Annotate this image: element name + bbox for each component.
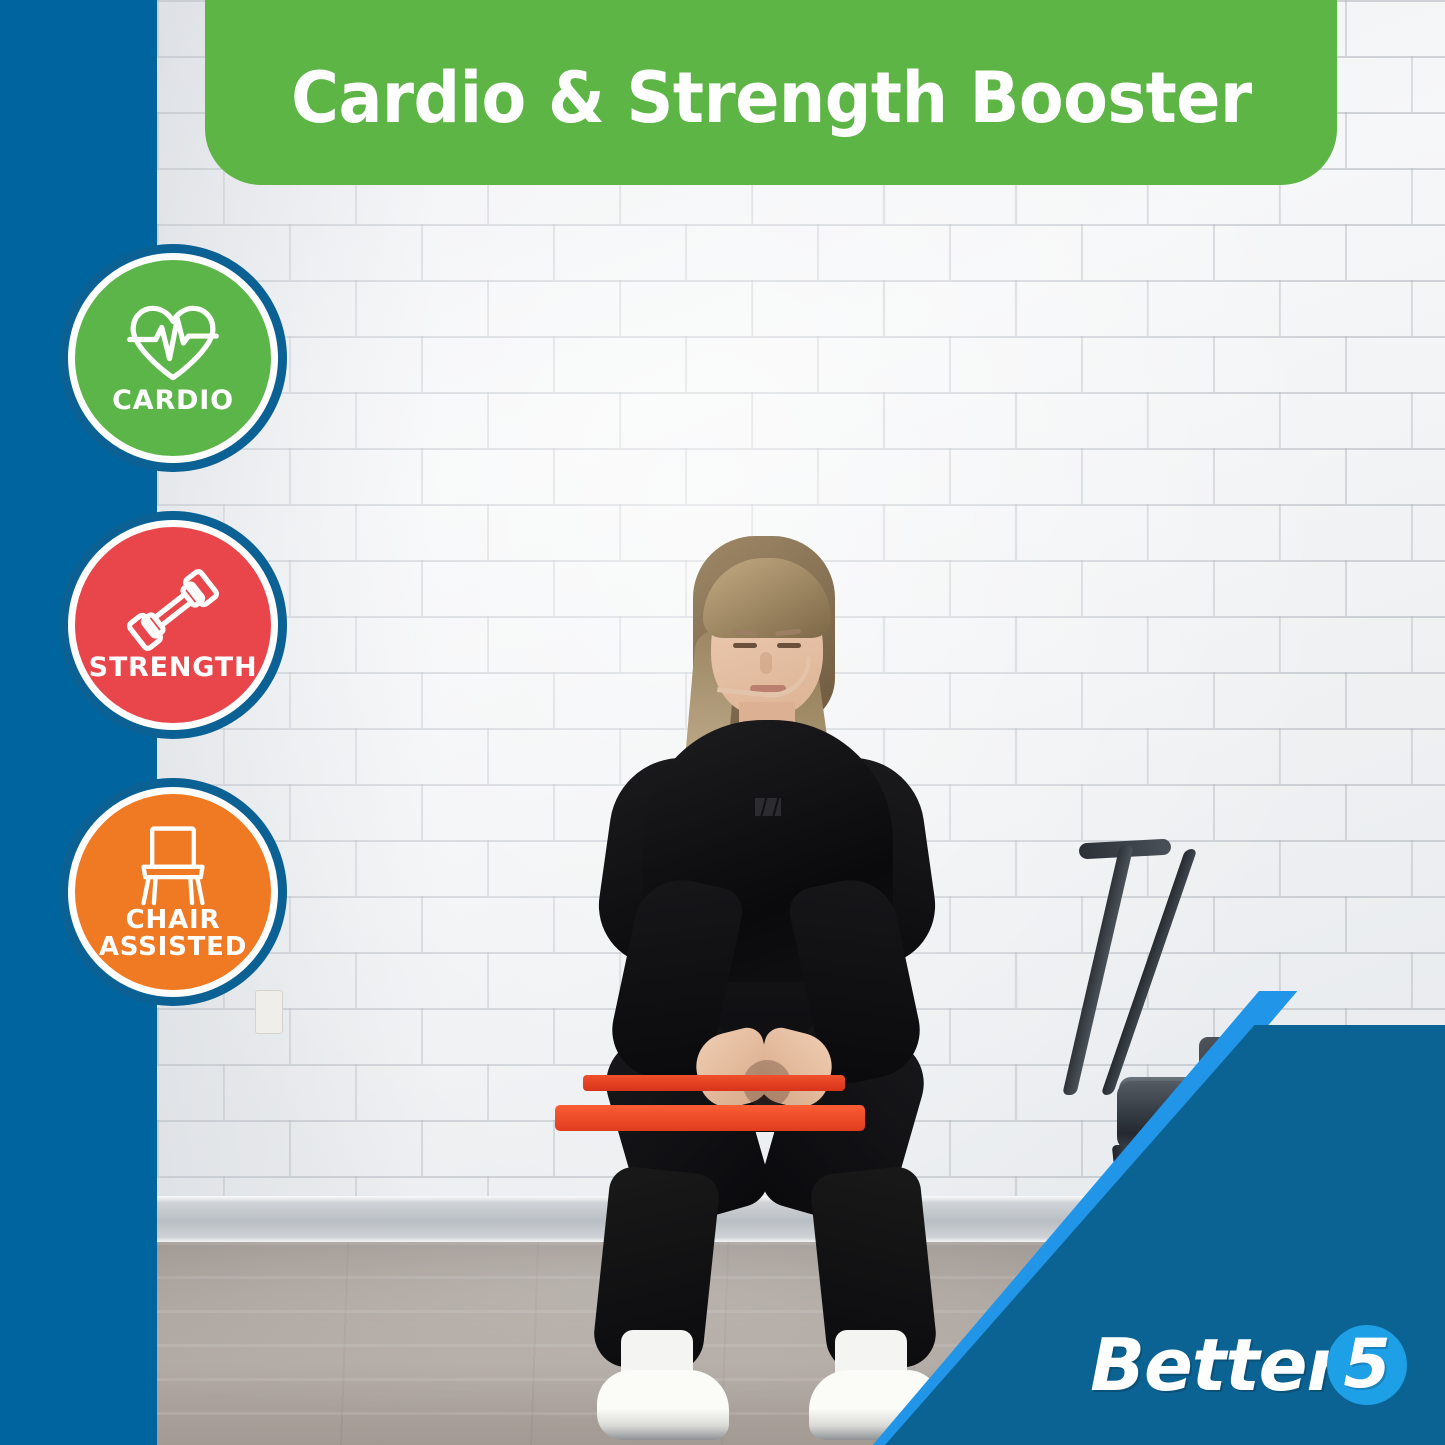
- sneaker-right: [809, 1370, 941, 1440]
- resistance-band: [555, 1075, 865, 1131]
- resistance-band-upper-strand: [583, 1075, 845, 1091]
- title-banner: Cardio & Strength Booster: [205, 0, 1337, 185]
- badge-strength[interactable]: STRENGTH: [68, 520, 278, 730]
- badge-strength-label: STRENGTH: [89, 654, 258, 682]
- badge-cardio[interactable]: CARDIO: [68, 253, 278, 463]
- heart-pulse-icon: [121, 301, 225, 385]
- badge-chair-label-line1: CHAIR: [126, 907, 221, 934]
- chair-icon: [121, 823, 225, 907]
- metal-chair: [1057, 845, 1407, 1325]
- logo-wordmark: Better: [1090, 1323, 1341, 1407]
- dumbbell-bar: [1255, 1054, 1351, 1074]
- workout-photo: [157, 0, 1445, 1445]
- chair-seat: [1117, 1081, 1387, 1151]
- logo-numeral-badge: 5: [1327, 1325, 1407, 1405]
- badge-chair-assisted[interactable]: CHAIR ASSISTED: [68, 787, 278, 997]
- resistance-band-lower-strand: [555, 1105, 865, 1131]
- page-title: Cardio & Strength Booster: [291, 63, 1251, 133]
- better5-logo[interactable]: Better 5: [1090, 1323, 1407, 1407]
- badge-cardio-label: CARDIO: [112, 387, 234, 415]
- instructor-figure: [547, 530, 977, 1445]
- shirt-logo: [755, 798, 781, 816]
- wall-outlet: [255, 990, 283, 1034]
- workout-thumbnail-card: Cardio & Strength Booster CARDIO STRENGT…: [0, 0, 1445, 1445]
- dumbbell-icon: [121, 568, 225, 652]
- sneaker-left: [597, 1370, 729, 1440]
- eye-right: [777, 643, 801, 648]
- logo-numeral: 5: [1343, 1331, 1390, 1399]
- badge-chair-label-line2: ASSISTED: [99, 934, 247, 961]
- eye-left: [733, 643, 757, 648]
